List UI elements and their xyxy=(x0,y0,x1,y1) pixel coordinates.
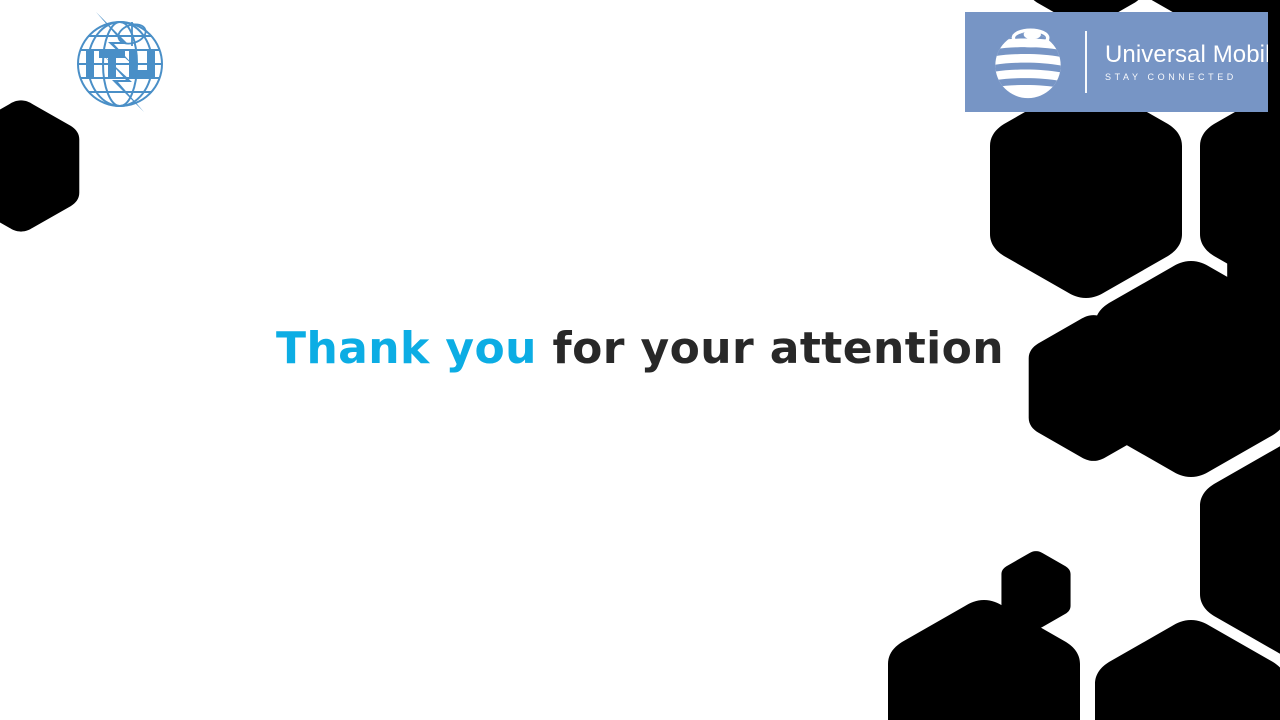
hexagon-gray xyxy=(1196,438,1280,662)
slide-canvas: Universal Mobile STAY CONNECTED Thank yo… xyxy=(0,0,1280,720)
hexagon-gray xyxy=(1091,616,1280,720)
headline-plain-text: for your attention xyxy=(553,323,1004,374)
partner-logo-tagline: STAY CONNECTED xyxy=(1105,72,1268,82)
headline: Thank you for your attention xyxy=(0,327,1280,371)
hexagon-gray xyxy=(884,596,1084,720)
hexagon-lavender xyxy=(1000,549,1072,631)
itu-logo xyxy=(66,8,174,116)
logo-text-block: Universal Mobile STAY CONNECTED xyxy=(1105,42,1268,81)
globe-icon xyxy=(985,19,1071,105)
logo-divider xyxy=(1085,31,1087,93)
hexagon-blue-accent xyxy=(0,98,82,234)
hexagon-lavender xyxy=(1224,172,1280,352)
headline-accent-text: Thank you xyxy=(276,323,537,374)
partner-logo-universal-mobile: Universal Mobile STAY CONNECTED xyxy=(965,12,1268,112)
partner-logo-title: Universal Mobile xyxy=(1105,42,1268,67)
